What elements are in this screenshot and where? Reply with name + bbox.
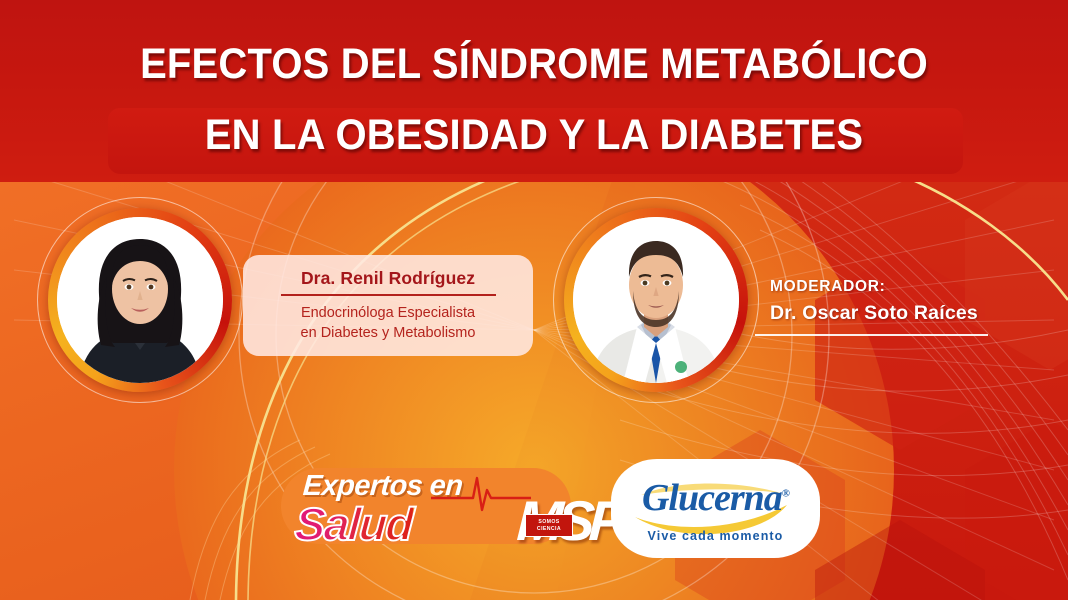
- portrait-female-doctor-icon: [57, 217, 223, 383]
- avatar-photo-moderator: [573, 217, 739, 383]
- speaker-role-line-1: Endocrinóloga Especialista: [301, 303, 476, 323]
- msp-badge-line-1: SOMOS: [538, 519, 559, 526]
- msp-word-salud: Salud: [293, 497, 414, 551]
- speaker-role-line-2: en Diabetes y Metabolismo: [301, 323, 476, 343]
- avatar-moderator: [564, 208, 748, 392]
- moderator-divider: [755, 334, 988, 336]
- portrait-male-doctor-icon: [573, 217, 739, 383]
- speaker-role: Endocrinóloga Especialista en Diabetes y…: [301, 303, 476, 343]
- moderator-name: Dr. Oscar Soto Raíces: [770, 302, 978, 325]
- logo-glucerna[interactable]: Glucerna® Vive cada momento: [611, 459, 820, 558]
- avatar-photo-speaker: [57, 217, 223, 383]
- avatar-speaker: [48, 208, 232, 392]
- speaker-name: Dra. Renil Rodríguez: [301, 268, 475, 289]
- speaker-name-card: Dra. Renil Rodríguez Endocrinóloga Espec…: [243, 255, 533, 356]
- webinar-banner: EFECTOS DEL SÍNDROME METABÓLICO EN LA OB…: [0, 0, 1068, 600]
- glucerna-wordmark: Glucerna®: [611, 476, 820, 520]
- title-line-2: EN LA OBESIDAD Y LA DIABETES: [37, 107, 1030, 163]
- speaker-divider: [281, 294, 496, 296]
- moderator-label: MODERADOR:: [770, 278, 978, 296]
- glucerna-registered-mark: ®: [782, 487, 789, 499]
- moderator-block: MODERADOR: Dr. Oscar Soto Raíces: [770, 278, 978, 325]
- glucerna-name: Glucerna: [642, 477, 782, 519]
- page-title: EFECTOS DEL SÍNDROME METABÓLICO EN LA OB…: [0, 36, 1068, 163]
- msp-somos-ciencia-badge: SOMOS CIENCIA: [525, 514, 573, 537]
- title-line-1: EFECTOS DEL SÍNDROME METABÓLICO: [37, 36, 1030, 92]
- msp-badge-line-2: CIENCIA: [537, 526, 561, 533]
- glucerna-tagline: Vive cada momento: [611, 529, 820, 543]
- logo-expertos-en-salud-msp[interactable]: Expertos en Salud MSP SOMOS CIENCIA: [281, 464, 586, 550]
